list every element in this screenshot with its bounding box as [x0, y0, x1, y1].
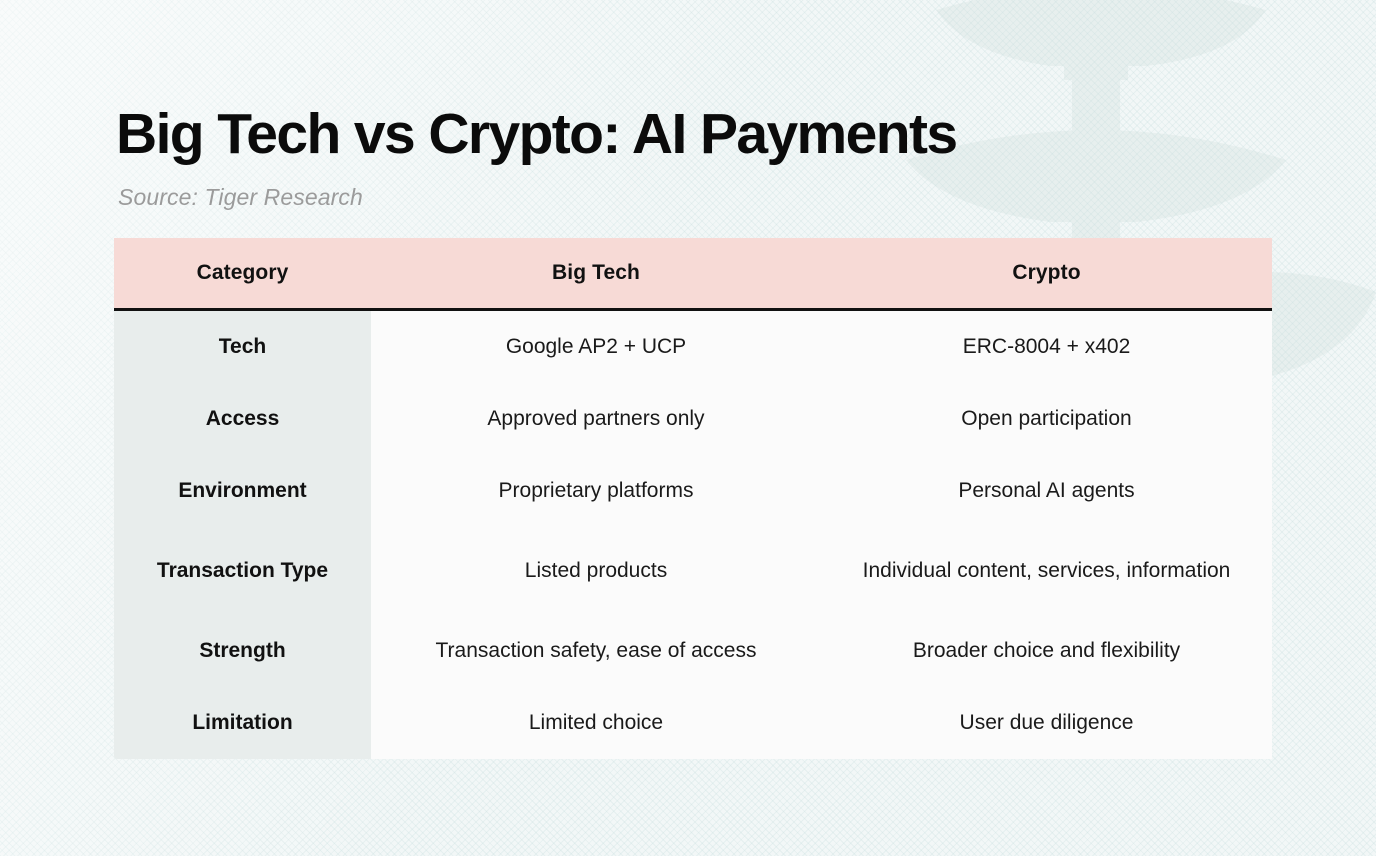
table-row: Environment Proprietary platforms Person…	[114, 455, 1272, 527]
cell-big-tech-strength: Transaction safety, ease of access	[371, 615, 821, 687]
table-row: Transaction Type Listed products Individ…	[114, 527, 1272, 615]
cell-crypto-tech: ERC-8004 + x402	[821, 310, 1272, 384]
cell-crypto-strength: Broader choice and flexibility	[821, 615, 1272, 687]
table-header-row: Category Big Tech Crypto	[114, 238, 1272, 310]
column-header-crypto: Crypto	[821, 238, 1272, 310]
source-attribution: Source: Tiger Research	[118, 184, 363, 211]
table-row: Limitation Limited choice User due dilig…	[114, 687, 1272, 759]
cell-big-tech-access: Approved partners only	[371, 383, 821, 455]
page-title: Big Tech vs Crypto: AI Payments	[116, 104, 956, 164]
cell-crypto-transaction-type: Individual content, services, informatio…	[821, 527, 1272, 615]
row-label-limitation: Limitation	[114, 687, 371, 759]
row-label-access: Access	[114, 383, 371, 455]
comparison-table-container: Category Big Tech Crypto Tech Google AP2…	[114, 238, 1272, 759]
cell-big-tech-tech: Google AP2 + UCP	[371, 310, 821, 384]
cell-big-tech-environment: Proprietary platforms	[371, 455, 821, 527]
table-body: Tech Google AP2 + UCP ERC-8004 + x402 Ac…	[114, 310, 1272, 760]
column-header-big-tech: Big Tech	[371, 238, 821, 310]
row-label-environment: Environment	[114, 455, 371, 527]
cell-crypto-environment: Personal AI agents	[821, 455, 1272, 527]
cell-big-tech-transaction-type: Listed products	[371, 527, 821, 615]
table-header: Category Big Tech Crypto	[114, 238, 1272, 310]
cell-big-tech-limitation: Limited choice	[371, 687, 821, 759]
table-row: Access Approved partners only Open parti…	[114, 383, 1272, 455]
column-header-category: Category	[114, 238, 371, 310]
row-label-tech: Tech	[114, 310, 371, 384]
table-row: Tech Google AP2 + UCP ERC-8004 + x402	[114, 310, 1272, 384]
row-label-strength: Strength	[114, 615, 371, 687]
row-label-transaction-type: Transaction Type	[114, 527, 371, 615]
cell-crypto-limitation: User due diligence	[821, 687, 1272, 759]
comparison-table: Category Big Tech Crypto Tech Google AP2…	[114, 238, 1272, 759]
table-row: Strength Transaction safety, ease of acc…	[114, 615, 1272, 687]
cell-crypto-access: Open participation	[821, 383, 1272, 455]
